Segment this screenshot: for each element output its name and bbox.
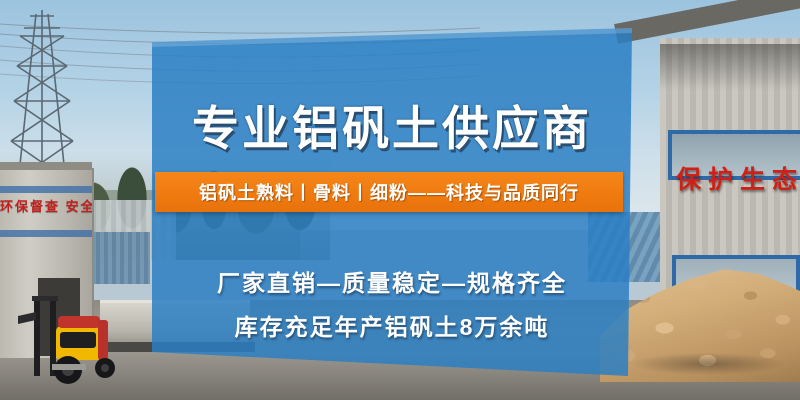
right-building-sign: 保护生态 — [676, 160, 800, 194]
banner-headline: 专业铝矾土供应商 — [152, 90, 632, 159]
right-wall-shadow — [660, 44, 800, 90]
banner-subline-1: 厂家直销—质量稳定—规格齐全 — [152, 264, 632, 298]
left-building-sign: 环保督查 安全为首 — [0, 196, 92, 222]
banner-image: 环保督查 安全为首 保护生态 专业铝矾土供应商 铝矾土熟料丨骨料丨细粉——科技与… — [0, 0, 800, 400]
banner-content: 专业铝矾土供应商 铝矾土熟料丨骨料丨细粉——科技与品质同行 厂家直销—质量稳定—… — [152, 28, 632, 376]
forklift-icon — [6, 286, 134, 390]
banner-subline-2: 库存充足年产铝矾土8万余吨 — [152, 308, 632, 342]
left-roofline — [0, 162, 92, 170]
left-wall-band-1 — [0, 186, 92, 193]
banner-ribbon: 铝矾土熟料丨骨料丨细粉——科技与品质同行 — [155, 172, 623, 212]
banner-ribbon-text: 铝矾土熟料丨骨料丨细粉——科技与品质同行 — [199, 179, 579, 205]
left-wall-band-2 — [0, 230, 92, 237]
